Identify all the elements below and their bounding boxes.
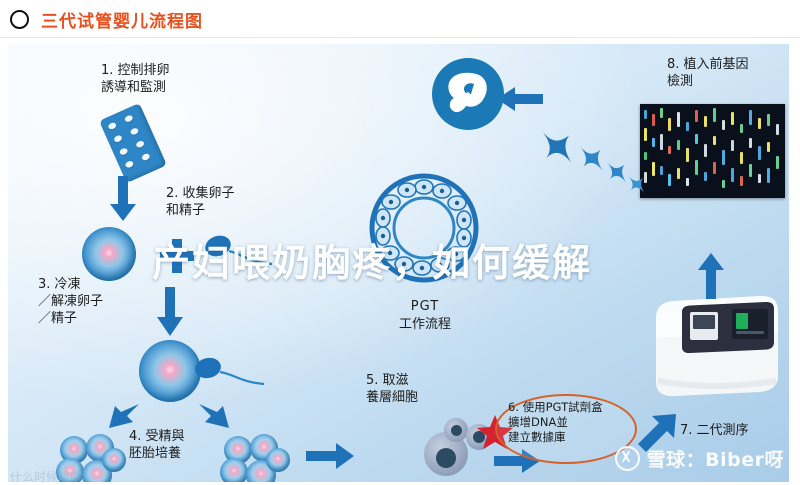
arrow-down-step1 xyxy=(108,176,138,222)
arrow-down-right-step4 xyxy=(193,400,235,442)
pill-blister-icon xyxy=(99,103,167,183)
sequencer-machine xyxy=(648,292,784,407)
pgt-center-label-secondary: 工作流程 xyxy=(385,316,465,333)
step-7-label: 7. 二代測序 xyxy=(680,422,749,439)
step-1-label: 1. 控制排卵 誘導和監測 xyxy=(101,62,170,96)
arrow-right-step5 xyxy=(306,442,356,470)
page-title: 三代试管婴儿流程图 xyxy=(41,7,203,32)
step-3-label: 3. 冷凍 ／解凍卵子 ／精子 xyxy=(38,276,103,327)
xueqiu-logo-icon xyxy=(615,446,640,471)
fertilized-egg xyxy=(139,340,201,402)
step-2-label: 2. 收集卵子 和精子 xyxy=(166,185,235,219)
chromosomes-icon xyxy=(534,128,654,217)
sperm-icon-fertilization xyxy=(194,354,268,399)
header-divider xyxy=(0,37,800,38)
overlay-headline: 产妇喂奶胸疼，如何缓解 xyxy=(152,232,592,287)
oocyte-step2 xyxy=(82,227,136,281)
page-header: 三代试管婴儿流程图 xyxy=(0,0,800,38)
arrow-down-step3 xyxy=(154,287,186,337)
cutoff-bottom-text: 什么时候能喂 xyxy=(10,468,82,485)
arrow-up-step8 xyxy=(696,252,726,300)
circle-outline-icon xyxy=(10,10,29,29)
step-6-label: 6. 使用PGT試劑盒 擴增DNA並 建立數據庫 xyxy=(508,400,603,445)
step-8-label: 8. 植入前基因 檢測 xyxy=(667,56,749,90)
watermark: 雪球：Biber呀 xyxy=(615,445,784,472)
genotyping-array-image xyxy=(640,104,785,198)
fetus-icon xyxy=(432,58,504,130)
screenshot-root: 三代试管婴儿流程图 1. 控制排卵 誘導和監測 2. 收集卵子 和精子 xyxy=(0,0,800,482)
step-5-label: 5. 取滋 養層細胞 xyxy=(366,372,418,406)
watermark-text: 雪球：Biber呀 xyxy=(647,445,784,472)
step-4-label: 4. 受精與 胚胎培養 xyxy=(129,428,185,462)
pgt-center-label-primary: PGT xyxy=(390,298,460,315)
